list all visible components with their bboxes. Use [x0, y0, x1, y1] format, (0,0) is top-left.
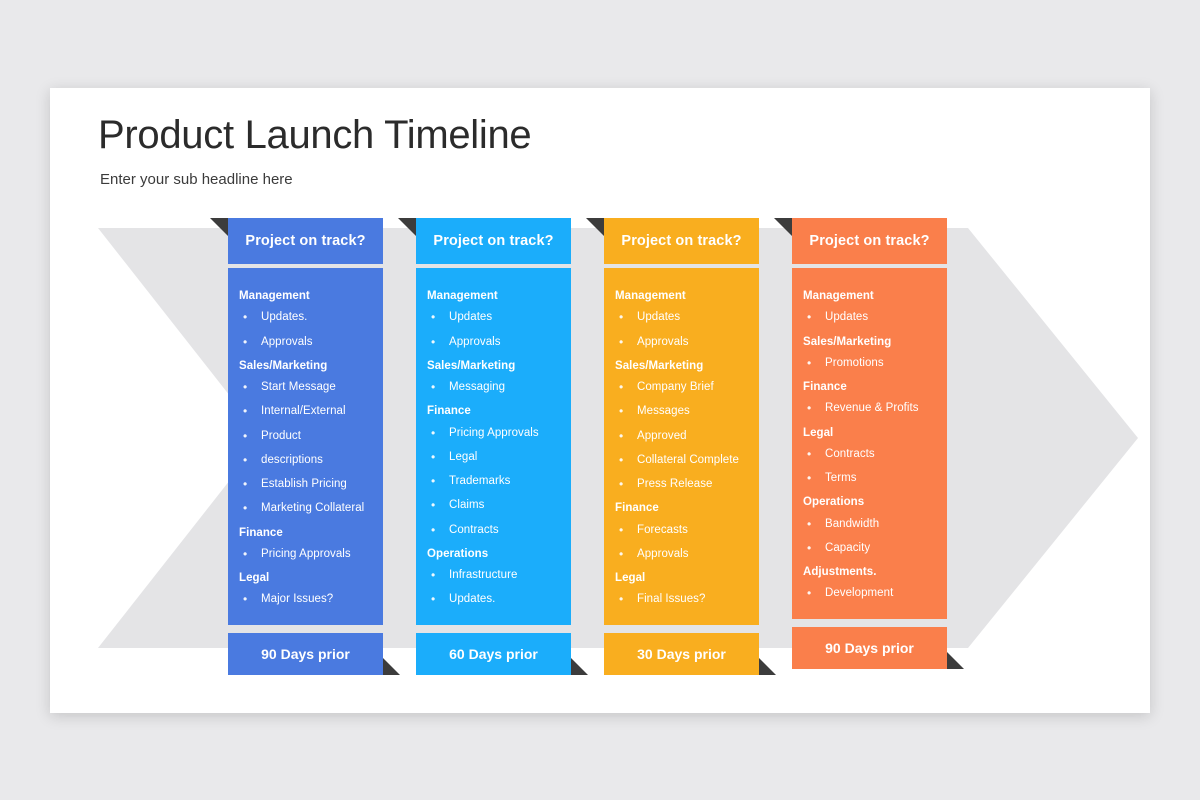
ribbon-fold-icon: [571, 658, 588, 675]
task-item: Major Issues?: [239, 591, 372, 608]
task-item: Approvals: [615, 334, 748, 351]
column-header-banner[interactable]: Project on track?: [228, 218, 383, 264]
ribbon-fold-icon: [947, 652, 964, 669]
ribbon-fold-icon: [210, 218, 228, 236]
column-body: ManagementUpdatesApprovalsSales/Marketin…: [416, 268, 571, 625]
column-footer-label: 90 Days prior: [825, 640, 914, 656]
task-item: Capacity: [803, 540, 936, 557]
task-item: Promotions: [803, 355, 936, 372]
column-header-banner[interactable]: Project on track?: [792, 218, 947, 264]
column-body: ManagementUpdatesSales/MarketingPromotio…: [792, 268, 947, 619]
task-item: Contracts: [427, 522, 560, 539]
task-group-title: Management: [239, 288, 372, 305]
task-item: Development: [803, 585, 936, 602]
task-item: Legal: [427, 449, 560, 466]
ribbon-fold-icon: [759, 658, 776, 675]
task-item: Pricing Approvals: [427, 425, 560, 442]
task-group: Sales/MarketingPromotions: [803, 334, 936, 373]
task-group-title: Operations: [803, 494, 936, 511]
ribbon-fold-icon: [383, 658, 400, 675]
column-footer-banner[interactable]: 30 Days prior: [604, 633, 759, 675]
task-item: Bandwidth: [803, 516, 936, 533]
task-group-title: Sales/Marketing: [615, 358, 748, 375]
task-group-title: Legal: [615, 570, 748, 587]
task-item: Updates.: [239, 309, 372, 326]
column-header-label: Project on track?: [433, 233, 553, 249]
ribbon-fold-icon: [774, 218, 792, 236]
task-group-title: Management: [615, 288, 748, 305]
task-item: Revenue & Profits: [803, 400, 936, 417]
task-group: LegalMajor Issues?: [239, 570, 372, 609]
column-footer-label: 30 Days prior: [637, 646, 726, 662]
task-group: Sales/MarketingStart MessageInternal/Ext…: [239, 358, 372, 518]
task-item: Establish Pricing: [239, 476, 372, 493]
task-group: Sales/MarketingMessaging: [427, 358, 560, 397]
column-footer-banner[interactable]: 60 Days prior: [416, 633, 571, 675]
column-header-label: Project on track?: [245, 233, 365, 249]
task-item: Messages: [615, 403, 748, 420]
task-group-title: Legal: [803, 425, 936, 442]
task-item: Company Brief: [615, 379, 748, 396]
task-item: Claims: [427, 497, 560, 514]
timeline-column: Project on track?ManagementUpdatesApprov…: [416, 218, 571, 675]
task-item: Internal/External: [239, 403, 372, 420]
task-group-title: Operations: [427, 546, 560, 563]
task-group: ManagementUpdatesApprovals: [427, 288, 560, 351]
task-item: Final Issues?: [615, 591, 748, 608]
task-item: Contracts: [803, 446, 936, 463]
column-body: ManagementUpdatesApprovalsSales/Marketin…: [604, 268, 759, 625]
task-group-title: Management: [427, 288, 560, 305]
task-group-title: Adjustments.: [803, 564, 936, 581]
task-item: Product: [239, 428, 372, 445]
column-footer-banner[interactable]: 90 Days prior: [228, 633, 383, 675]
task-item: Collateral Complete: [615, 452, 748, 469]
task-item: Updates: [615, 309, 748, 326]
task-item: Updates: [803, 309, 936, 326]
task-group: OperationsBandwidthCapacity: [803, 494, 936, 557]
task-item: Forecasts: [615, 522, 748, 539]
task-item: Approvals: [615, 546, 748, 563]
column-body: ManagementUpdates.ApprovalsSales/Marketi…: [228, 268, 383, 625]
task-item: descriptions: [239, 452, 372, 469]
task-group: FinanceForecastsApprovals: [615, 500, 748, 563]
ribbon-fold-icon: [586, 218, 604, 236]
task-item: Start Message: [239, 379, 372, 396]
task-group: LegalContractsTerms: [803, 425, 936, 488]
task-item: Approvals: [239, 334, 372, 351]
timeline-column: Project on track?ManagementUpdatesSales/…: [792, 218, 947, 669]
task-group: FinanceRevenue & Profits: [803, 379, 936, 418]
task-item: Updates.: [427, 591, 560, 608]
task-item: Press Release: [615, 476, 748, 493]
ribbon-fold-icon: [398, 218, 416, 236]
task-group-title: Sales/Marketing: [803, 334, 936, 351]
task-item: Pricing Approvals: [239, 546, 372, 563]
task-item: Marketing Collateral: [239, 500, 372, 517]
timeline-column: Project on track?ManagementUpdatesApprov…: [604, 218, 759, 675]
task-item: Approved: [615, 428, 748, 445]
slide-canvas: Product Launch Timeline Enter your sub h…: [50, 88, 1150, 713]
timeline-column: Project on track?ManagementUpdates.Appro…: [228, 218, 383, 675]
task-group-title: Finance: [239, 525, 372, 542]
column-header-label: Project on track?: [621, 233, 741, 249]
task-group-title: Sales/Marketing: [239, 358, 372, 375]
task-item: Approvals: [427, 334, 560, 351]
task-group-title: Legal: [239, 570, 372, 587]
task-group: FinancePricing Approvals: [239, 525, 372, 564]
task-group: Adjustments.Development: [803, 564, 936, 603]
task-item: Terms: [803, 470, 936, 487]
task-item: Messaging: [427, 379, 560, 396]
task-group: OperationsInfrastructureUpdates.: [427, 546, 560, 609]
task-group: LegalFinal Issues?: [615, 570, 748, 609]
task-group-title: Finance: [615, 500, 748, 517]
column-header-banner[interactable]: Project on track?: [604, 218, 759, 264]
task-group-title: Finance: [803, 379, 936, 396]
task-item: Trademarks: [427, 473, 560, 490]
task-group: ManagementUpdates: [803, 288, 936, 327]
timeline-columns: Project on track?ManagementUpdates.Appro…: [50, 88, 1150, 713]
task-item: Infrastructure: [427, 567, 560, 584]
task-item: Updates: [427, 309, 560, 326]
task-group-title: Management: [803, 288, 936, 305]
task-group-title: Finance: [427, 403, 560, 420]
column-header-banner[interactable]: Project on track?: [416, 218, 571, 264]
column-footer-banner[interactable]: 90 Days prior: [792, 627, 947, 669]
task-group: FinancePricing ApprovalsLegalTrademarksC…: [427, 403, 560, 539]
column-header-label: Project on track?: [809, 233, 929, 249]
column-footer-label: 90 Days prior: [261, 646, 350, 662]
task-group: ManagementUpdates.Approvals: [239, 288, 372, 351]
task-group-title: Sales/Marketing: [427, 358, 560, 375]
column-footer-label: 60 Days prior: [449, 646, 538, 662]
task-group: Sales/MarketingCompany BriefMessagesAppr…: [615, 358, 748, 494]
task-group: ManagementUpdatesApprovals: [615, 288, 748, 351]
